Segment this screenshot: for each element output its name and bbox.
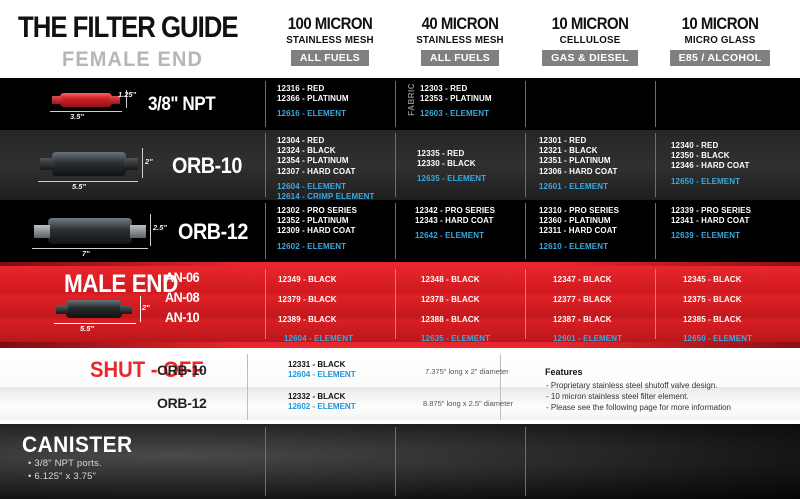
column-micron-label: 10 MICRON [663,14,777,33]
canister-title: CANISTER [22,432,133,458]
column-header-3: 10 MICRON MICRO GLASS E85 / ALCOHOL [655,14,785,66]
element-part-number: 12650 - ELEMENT [671,177,785,187]
part-number: 12354 - PLATINUM [277,156,395,166]
orb12-filter-outlet [130,225,146,238]
male-end-cells: 12349 - BLACK 12379 - BLACK 12389 - BLAC… [265,266,800,342]
part-number: 12311 - HARD COAT [539,226,655,236]
part-number: 12343 - HARD COAT [415,216,525,226]
column-material-label: MICRO GLASS [660,34,781,46]
part-number: 12366 - PLATINUM [277,94,395,104]
element-part-number: 12639 - ELEMENT [671,231,785,241]
feature-item: - Proprietary stainless steel shutoff va… [546,380,718,391]
part-number: 12349 - BLACK [278,270,395,290]
element-part-number: 12642 - ELEMENT [415,231,525,241]
shutoff-size-label: ORB-12 [157,395,207,411]
cell-40-micron: FABRIC 12303 - RED 12353 - PLATINUM 1260… [395,78,525,130]
part-number: 12350 - BLACK [671,151,785,161]
cell-100-micron: 12302 - PRO SERIES 12352 - PLATINUM 1230… [265,200,395,262]
npt-diameter-dim: 1.25" [118,90,136,99]
npt-filter-image [60,93,112,107]
part-number: 12304 - RED [277,136,395,146]
part-number: 12375 - BLACK [683,290,785,310]
part-number: 12341 - HARD COAT [671,216,785,226]
table-row: 5.5" 2" ORB-10 12304 - RED 12324 - BLACK… [0,130,800,200]
an-length-dimline [54,323,136,324]
column-micron-label: 10 MICRON [533,14,647,33]
cell-male-100-micron: 12349 - BLACK 12379 - BLACK 12389 - BLAC… [265,266,395,342]
cell-male-10-micron-microglass: 12345 - BLACK 12375 - BLACK 12385 - BLAC… [655,266,785,342]
part-number: 12348 - BLACK [421,270,525,290]
element-part-number: 12603 - ELEMENT [420,109,525,119]
row-title: ORB-10 [172,153,242,179]
orb10-length-dim: 5.5" [72,182,86,191]
element-part-number: 12610 - ELEMENT [539,242,655,252]
cell-10-micron-microglass: 12340 - RED 12350 - BLACK 12346 - HARD C… [655,130,785,200]
cell-10-micron-cellulose: 12310 - PRO SERIES 12360 - PLATINUM 1231… [525,200,655,262]
part-number: 12389 - BLACK [278,310,395,330]
filter-guide-page: THE FILTER GUIDE FEMALE END 100 MICRON S… [0,0,800,499]
element-part-number: 12616 - ELEMENT [277,109,395,119]
shutoff-part-number: 12332 - BLACK [288,392,345,403]
an-length-dim: 5.5" [80,324,94,333]
part-number: 12340 - RED [671,141,785,151]
row-title: ORB-12 [178,219,248,245]
cell-40-micron: 12342 - PRO SERIES 12343 - HARD COAT 126… [395,200,525,262]
female-end-subtitle: FEMALE END [62,48,203,72]
cell-male-10-micron-cellulose: 12347 - BLACK 12377 - BLACK 12387 - BLAC… [525,266,655,342]
part-number: 12387 - BLACK [553,310,655,330]
cell-male-40-micron: 12348 - BLACK 12378 - BLACK 12388 - BLAC… [395,266,525,342]
column-material-label: STAINLESS MESH [270,34,391,46]
an-filter-outlet [120,305,132,314]
table-row: 3.5" 1.25" 3/8" NPT 12316 - RED 12366 - … [0,78,800,130]
shutoff-divider-1 [247,354,248,420]
canister-bullet: • 6.125" x 3.75" [28,471,96,482]
column-micron-label: 40 MICRON [403,14,517,33]
part-number: 12351 - PLATINUM [539,156,655,166]
row-cells: 12302 - PRO SERIES 12352 - PLATINUM 1230… [265,200,800,262]
part-number: 12347 - BLACK [553,270,655,290]
cell-10-micron-microglass: 12339 - PRO SERIES 12341 - HARD COAT 126… [655,200,785,262]
part-number: 12360 - PLATINUM [539,216,655,226]
part-number: 12346 - HARD COAT [671,161,785,171]
features-title: Features [545,367,583,377]
part-number: 12330 - BLACK [417,159,525,169]
part-number: 12335 - RED [417,149,525,159]
part-number: 12309 - HARD COAT [277,226,395,236]
part-number: 12345 - BLACK [683,270,785,290]
shutoff-element-part-number: 12604 - ELEMENT [288,370,356,381]
orb10-filter-inlet [40,158,54,170]
part-number: 12377 - BLACK [553,290,655,310]
element-part-number: 12602 - ELEMENT [277,242,395,252]
table-row: 7" 2.5" ORB-12 12302 - PRO SERIES 12352 … [0,200,800,262]
shutoff-size-label: ORB-10 [157,362,207,378]
an-size-label: AN-10 [165,309,199,325]
column-material-label: CELLULOSE [530,34,651,46]
orb12-diameter-dim: 2.5" [153,223,167,232]
column-divider [265,427,266,496]
cell-10-micron-cellulose: 12301 - RED 12321 - BLACK 12351 - PLATIN… [525,130,655,200]
shutoff-dimension: 7.375" long x 2" diameter [425,367,509,376]
an-filter-inlet [56,305,68,314]
shutoff-divider-2 [500,354,501,420]
element-part-number: 12635 - ELEMENT [417,174,525,184]
row-title: 3/8" NPT [148,94,215,116]
column-header-0: 100 MICRON STAINLESS MESH ALL FUELS [265,14,395,66]
canister-bullet: • 3/8" NPT ports. [28,458,102,469]
column-divider [395,427,396,496]
shutoff-part-number: 12331 - BLACK [288,360,345,371]
an-filter-image [66,300,122,318]
orb12-diameter-dimline [150,214,151,246]
page-title: THE FILTER GUIDE [18,11,238,45]
orb12-length-dimline [32,248,148,249]
part-number: 12301 - RED [539,136,655,146]
column-fuel-badge: ALL FUELS [291,50,369,66]
an-size-label: AN-08 [165,289,199,305]
orb10-diameter-dimline [142,148,143,178]
column-fuel-badge: ALL FUELS [421,50,499,66]
part-number: 12316 - RED [277,84,395,94]
feature-item: - Please see the following page for more… [546,402,731,413]
orb10-filter-outlet [124,158,138,170]
part-number: 12379 - BLACK [278,290,395,310]
an-size-label: AN-06 [165,269,199,285]
orb10-length-dimline [38,181,138,182]
part-number: 12385 - BLACK [683,310,785,330]
male-end-block: MALE END 5.5" 2" AN-06 AN-08 AN-10 12349… [0,266,800,342]
cell-10-micron-microglass [655,78,785,130]
shutoff-dimension: 8.875" long x 2.5" diameter [423,399,513,408]
part-number: 12303 - RED [420,84,525,94]
column-header-1: 40 MICRON STAINLESS MESH ALL FUELS [395,14,525,66]
part-number: 12342 - PRO SERIES [415,206,525,216]
part-number: 12306 - HARD COAT [539,167,655,177]
row-label-orb10: 5.5" 2" ORB-10 [0,130,265,200]
npt-length-dimline [50,111,122,112]
part-number: 12310 - PRO SERIES [539,206,655,216]
row-label-npt: 3.5" 1.25" 3/8" NPT [0,78,265,130]
an-diameter-dim: 2" [142,303,150,312]
element-part-number: 12604 - ELEMENT [277,182,395,192]
column-micron-label: 100 MICRON [273,14,387,33]
part-number: 12353 - PLATINUM [420,94,525,104]
column-material-label: STAINLESS MESH [400,34,521,46]
feature-item: - 10 micron stainless steel filter eleme… [546,391,689,402]
fabric-label: FABRIC [407,83,416,116]
npt-length-dim: 3.5" [70,112,84,121]
column-fuel-badge: E85 / ALCOHOL [670,50,771,66]
shutoff-element-part-number: 12602 - ELEMENT [288,402,356,413]
orb10-diameter-dim: 2" [145,157,153,166]
cell-10-micron-cellulose [525,78,655,130]
cell-40-micron: 12335 - RED 12330 - BLACK 12635 - ELEMEN… [395,130,525,200]
male-end-bottom-separator [0,342,800,348]
orb10-filter-image [52,152,126,176]
part-number: 12339 - PRO SERIES [671,206,785,216]
page-header: THE FILTER GUIDE FEMALE END 100 MICRON S… [0,0,800,78]
orb12-length-dim: 7" [82,249,90,258]
row-cells: 12316 - RED 12366 - PLATINUM 12616 - ELE… [265,78,800,130]
orb12-filter-image [48,218,132,244]
cell-100-micron: 12304 - RED 12324 - BLACK 12354 - PLATIN… [265,130,395,200]
column-fuel-badge: GAS & DIESEL [542,50,638,66]
male-end-title: MALE END [64,270,178,299]
part-number: 12378 - BLACK [421,290,525,310]
row-label-orb12: 7" 2.5" ORB-12 [0,200,265,262]
element-part-number: 12601 - ELEMENT [539,182,655,192]
an-diameter-dimline [140,296,141,322]
cell-100-micron: 12316 - RED 12366 - PLATINUM 12616 - ELE… [265,78,395,130]
orb12-filter-inlet [34,225,50,238]
part-number: 12302 - PRO SERIES [277,206,395,216]
part-number: 12352 - PLATINUM [277,216,395,226]
row-cells: 12304 - RED 12324 - BLACK 12354 - PLATIN… [265,130,800,200]
part-number: 12324 - BLACK [277,146,395,156]
column-header-2: 10 MICRON CELLULOSE GAS & DIESEL [525,14,655,66]
npt-filter-inlet [52,96,62,104]
part-number: 12307 - HARD COAT [277,167,395,177]
part-number: 12321 - BLACK [539,146,655,156]
part-number: 12388 - BLACK [421,310,525,330]
column-divider [525,427,526,496]
